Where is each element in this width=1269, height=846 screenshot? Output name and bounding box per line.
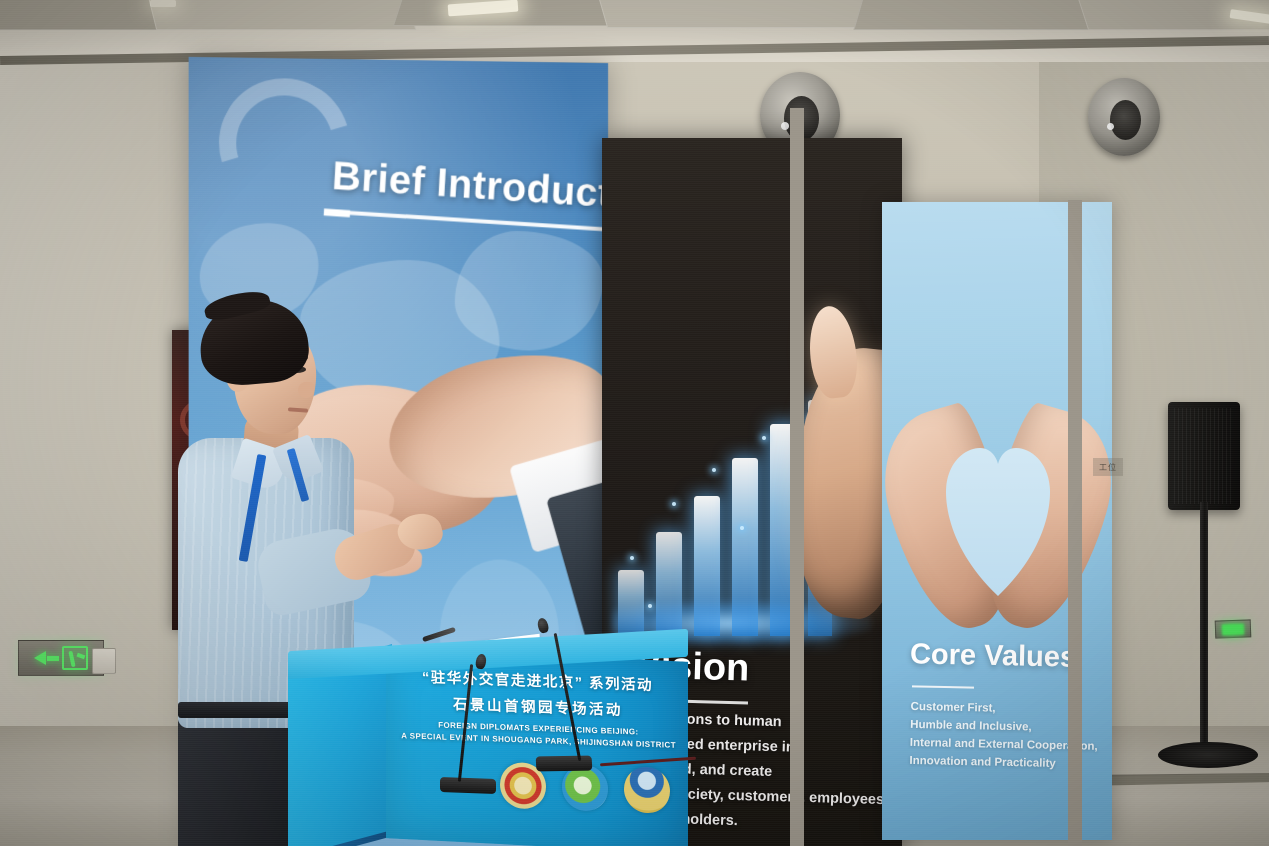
spark [630,556,634,560]
exit-sign-right [1215,619,1252,638]
section-title-core-values: Core Values [910,638,1077,674]
exit-sign-glow-icon [1222,623,1244,635]
nose [298,382,314,398]
page-title: Brief Introduction [331,154,608,221]
spark [712,468,716,472]
section-underline [912,685,974,688]
ceiling-panel [853,0,1116,30]
chart-bar [656,532,682,636]
event-photo-scene: Brief Introduction Mission ...on ...lopm… [0,0,1269,846]
chart-bar [694,496,720,636]
podium-sign-cn-line1: “驻华外交官走进北京” 系列活动 [395,665,679,696]
ceiling-panel [144,0,416,30]
microphone-base [536,756,593,772]
running-person-icon [62,646,88,670]
spark [762,436,766,440]
speaker-cabinet [1168,402,1240,510]
emblem-green-blue-icon [562,764,609,812]
speaker-base [1158,742,1258,768]
microphone-base [440,777,496,794]
runner-body [68,651,75,667]
panel-gap [1068,200,1082,846]
pa-speaker-stand [1160,402,1256,794]
spark [672,502,676,506]
pointing-finger [805,304,860,400]
podium-sign-cn-line2: 石景山首钢园专场活动 [396,691,680,722]
spark [740,526,744,530]
panel-gap [790,108,804,846]
wall-outlet [92,648,116,674]
wall-plaque: 工位 [1093,458,1123,476]
speaker-pole [1200,502,1208,754]
globe-arc-graphic [196,57,373,232]
emblem-shougang-group-icon [624,766,671,814]
ceiling-panel [593,0,887,28]
arrow-tail [47,656,59,661]
ceiling-light [150,0,176,7]
chart-bar [618,570,644,636]
exit-sign-graphic [34,646,88,670]
podium: “驻华外交官走进北京” 系列活动 石景山首钢园专场活动 FOREIGN DIPL… [288,640,688,846]
chart-bar [732,458,758,636]
podium-banner-text: “驻华外交官走进北京” 系列活动 石景山首钢园专场活动 FOREIGN DIPL… [395,657,681,759]
arrow-left-icon [34,651,46,665]
runner-leg [77,653,86,659]
spark [648,604,652,608]
